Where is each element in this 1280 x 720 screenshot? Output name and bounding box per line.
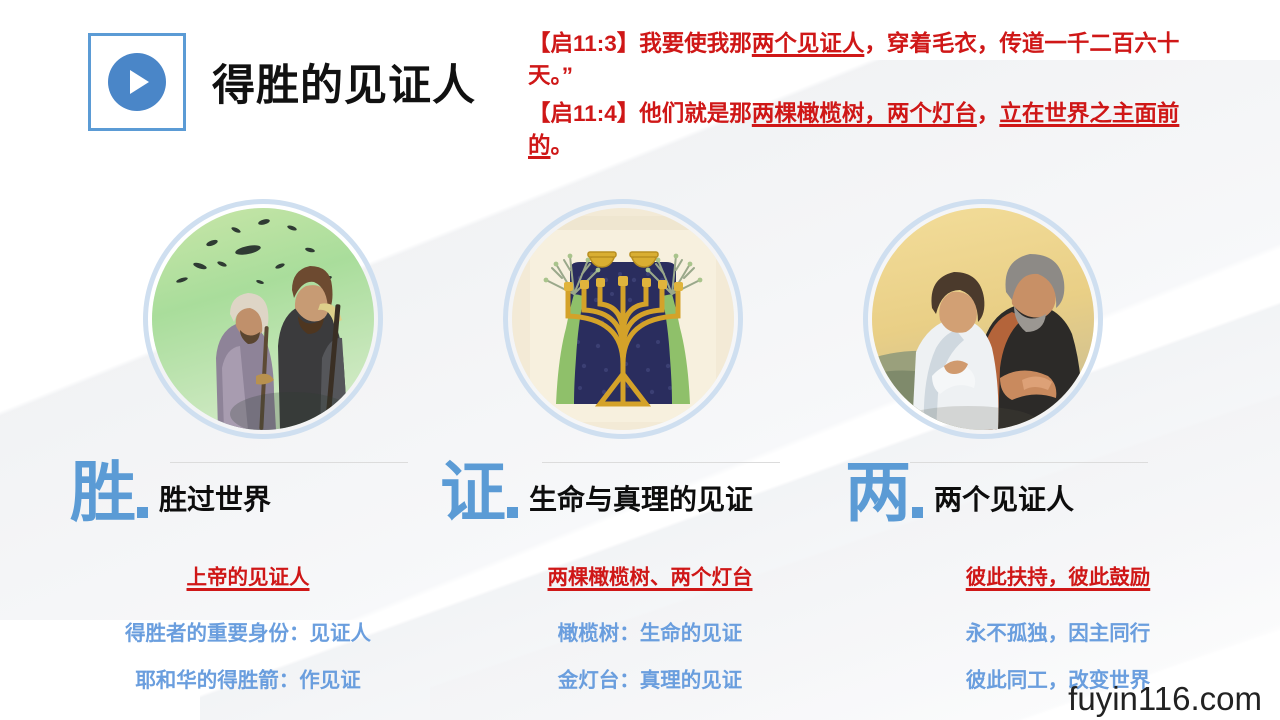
column-title-2: 两棵橄榄树、两个灯台: [480, 560, 820, 590]
column-line-2-2: 金灯台：真理的见证: [480, 663, 820, 693]
heading-dot-3: [912, 507, 923, 518]
heading-dot-2: [507, 507, 518, 518]
column-title-1: 上帝的见证人: [78, 560, 418, 590]
logo-frame-right: [183, 33, 186, 131]
column-subheading-1: 胜过世界: [159, 478, 271, 524]
page-title: 得胜的见证人: [212, 51, 476, 113]
column-title-3: 彼此扶持，彼此鼓励: [888, 560, 1228, 590]
verse1-pre-text: 我要使我那: [639, 31, 752, 56]
verse2-underlined-text-a: 两棵橄榄树，两个灯台: [752, 101, 977, 126]
column-line-1-2: 耶和华的得胜箭：作见证: [78, 663, 418, 693]
column-line-3-1: 永不孤独，因主同行: [888, 616, 1228, 646]
presentation-slide: 得胜的见证人 【启11:3】我要使我那两个见证人，穿着毛衣，传道一千二百六十天。…: [0, 0, 1280, 720]
verse1-reference: 【启11:3】: [528, 31, 639, 56]
heading-dot-1: [137, 507, 148, 518]
column-line-1-1: 得胜者的重要身份：见证人: [78, 616, 418, 646]
scripture-verse-11-4: 【启11:4】他们就是那两棵橄榄树，两个灯台，立在世界之主面前的。: [528, 98, 1192, 162]
picture-disc: [512, 208, 734, 430]
peter-and-john-running-image: [872, 208, 1094, 430]
picture-disc: [152, 208, 374, 430]
logo-frame-left: [88, 33, 91, 131]
logo-frame-bottom: [88, 128, 186, 131]
column-heading-2: 证 生命与真理的见证: [440, 452, 753, 524]
column-subheading-2: 生命与真理的见证: [529, 478, 753, 524]
scripture-block: 【启11:3】我要使我那两个见证人，穿着毛衣，传道一千二百六十天。” 【启11:…: [528, 28, 1192, 168]
big-character-3: 两: [845, 461, 909, 524]
scripture-verse-11-3: 【启11:3】我要使我那两个见证人，穿着毛衣，传道一千二百六十天。”: [528, 28, 1192, 92]
verse2-reference: 【启11:4】: [528, 101, 639, 126]
column-body-1: 上帝的见证人 得胜者的重要身份：见证人 耶和华的得胜箭：作见证: [78, 560, 418, 710]
two-witnesses-prophets-image: [152, 208, 374, 430]
verse2-post-text: 。: [551, 133, 574, 158]
big-character-2: 证: [440, 461, 504, 524]
big-character-1: 胜: [70, 461, 134, 524]
column-subheading-3: 两个见证人: [934, 478, 1074, 524]
play-circle-icon: [108, 53, 166, 111]
column-line-2-1: 橄榄树：生命的见证: [480, 616, 820, 646]
play-button-icon: [88, 33, 186, 131]
column-body-2: 两棵橄榄树、两个灯台 橄榄树：生命的见证 金灯台：真理的见证: [480, 560, 820, 710]
verse2-pre-text: 他们就是那: [639, 101, 752, 126]
menorah-olive-trees-manuscript-image: [512, 208, 734, 430]
column-heading-1: 胜 胜过世界: [70, 452, 271, 524]
watermark: fuyin116.com: [1068, 680, 1262, 718]
verse2-mid-text: ，: [977, 101, 1000, 126]
play-triangle-icon: [130, 70, 149, 94]
column-heading-3: 两 两个见证人: [845, 452, 1074, 524]
picture-disc: [872, 208, 1094, 430]
logo-frame-top: [88, 33, 186, 36]
verse1-underlined-text: 两个见证人: [752, 31, 865, 56]
slide-header: 得胜的见证人: [88, 26, 476, 138]
